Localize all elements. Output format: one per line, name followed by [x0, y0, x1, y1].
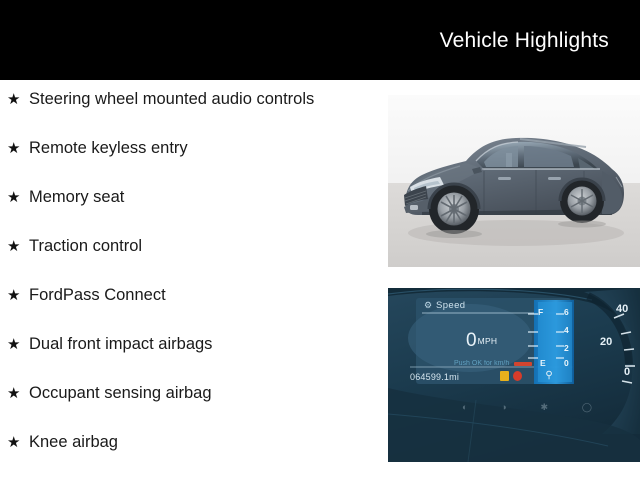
fog-lamp-icon: ◑ [501, 400, 506, 414]
headlight-icon: ◐ [462, 400, 467, 414]
feature-label: Knee airbag [29, 431, 385, 453]
list-item: ★ Traction control [0, 235, 385, 284]
feature-label: Occupant sensing airbag [29, 382, 385, 404]
feature-label: Remote keyless entry [29, 137, 385, 159]
brake-warning-icon [513, 371, 522, 381]
feature-label: Memory seat [29, 186, 385, 208]
list-item: ★ Knee airbag [0, 431, 385, 480]
list-item: ★ Memory seat [0, 186, 385, 235]
speed-value-readout: 0MPH [466, 330, 497, 352]
speed-label: Speed [436, 300, 465, 311]
tach-mark-2: 2 [564, 343, 569, 353]
feature-label: FordPass Connect [29, 284, 385, 306]
tach-mark-4: 4 [564, 325, 569, 335]
star-bullet-icon: ★ [7, 333, 29, 356]
star-bullet-icon: ★ [7, 431, 29, 454]
vehicle-exterior-image [388, 95, 640, 267]
outer-gauge-mark-0: 0 [624, 366, 630, 378]
list-item: ★ Steering wheel mounted audio controls [0, 88, 385, 137]
cruise-speed-icon: ⚙ [424, 300, 434, 310]
feature-label: Dual front impact airbags [29, 333, 385, 355]
header-bar: Vehicle Highlights [0, 0, 640, 80]
list-item: ★ FordPass Connect [0, 284, 385, 333]
vehicle-exterior-photo[interactable] [388, 95, 640, 267]
star-bullet-icon: ★ [7, 137, 29, 160]
star-bullet-icon: ★ [7, 382, 29, 405]
tach-mark-6: 6 [564, 307, 569, 317]
fuel-full-mark: F [538, 307, 543, 317]
list-item: ★ Remote keyless entry [0, 137, 385, 186]
page-title: Vehicle Highlights [440, 28, 609, 53]
feature-label: Traction control [29, 235, 385, 257]
outer-gauge-mark-20: 20 [600, 336, 612, 348]
speed-unit: MPH [478, 336, 498, 346]
star-bullet-icon: ★ [7, 235, 29, 258]
feature-label: Steering wheel mounted audio controls [29, 88, 385, 110]
auto-lamp-icon: ◯ [582, 400, 592, 414]
odometer-readout: 064599.1mi [410, 372, 459, 382]
fuel-empty-mark: E [540, 358, 546, 368]
speed-number: 0 [466, 330, 477, 351]
kmh-hint-text: Push OK for km/h [454, 360, 509, 367]
instrument-cluster-image: ⚙ Speed 0MPH Push OK for km/h 064599.1mi… [388, 288, 640, 462]
dimmer-icon: ✱ [541, 400, 549, 414]
seatbelt-warning-icon: ⚲ [543, 370, 555, 382]
dash-control-icons: ◐ ◑ ✱ ◯ [462, 400, 592, 414]
outer-gauge-mark-40: 40 [616, 303, 628, 315]
tach-mark-0: 0 [564, 358, 569, 368]
list-item: ★ Dual front impact airbags [0, 333, 385, 382]
list-item: ★ Occupant sensing airbag [0, 382, 385, 431]
instrument-cluster-photo[interactable]: ⚙ Speed 0MPH Push OK for km/h 064599.1mi… [388, 288, 640, 462]
star-bullet-icon: ★ [7, 88, 29, 111]
fuel-warning-icon [500, 371, 509, 381]
vehicle-features-list: ★ Steering wheel mounted audio controls … [0, 88, 385, 480]
star-bullet-icon: ★ [7, 284, 29, 307]
star-bullet-icon: ★ [7, 186, 29, 209]
